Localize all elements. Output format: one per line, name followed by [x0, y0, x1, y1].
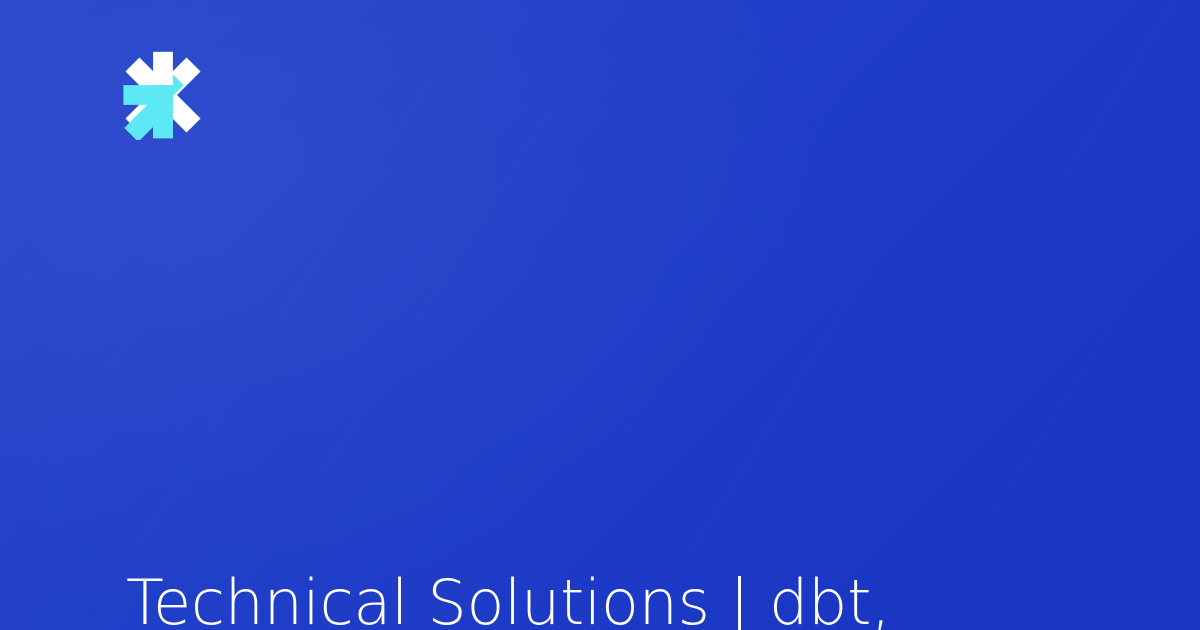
og-card: Technical Solutions | dbt, simplify data… — [0, 0, 1200, 630]
page-title: Technical Solutions | dbt, simplify data… — [126, 378, 1086, 630]
dbt-asterisk-icon — [118, 50, 208, 140]
dbt-logo[interactable] — [118, 50, 208, 140]
headline-line-1: Technical Solutions | dbt, simplify — [126, 558, 1086, 630]
